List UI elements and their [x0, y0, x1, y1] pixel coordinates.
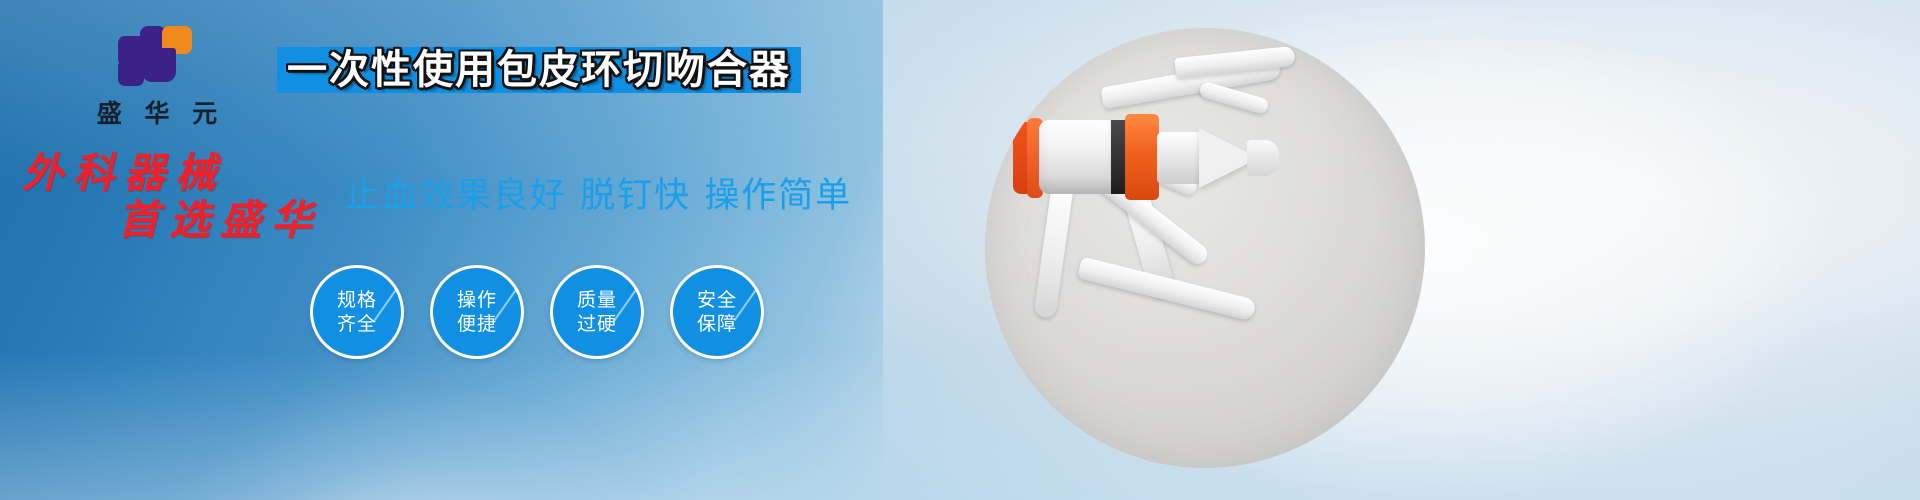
- product-photo: [985, 28, 1425, 468]
- badge-line-2: 便捷: [457, 312, 497, 336]
- logo-block-e: [118, 62, 144, 86]
- feature-badge-safety[interactable]: 安全 保障: [670, 265, 764, 359]
- calligraphy-slogan: 外科器械 首选盛华: [22, 150, 352, 243]
- badge-line-1: 规格: [337, 288, 377, 312]
- badge-line-2: 过硬: [577, 312, 617, 336]
- badge-line-1: 操作: [457, 288, 497, 312]
- feature-badge-operation[interactable]: 操作 便捷: [430, 265, 524, 359]
- feature-badge-quality[interactable]: 质量 过硬: [550, 265, 644, 359]
- device-neck: [1157, 132, 1203, 184]
- brand-logo: 盛 华 元: [62, 26, 252, 130]
- logo-block-d: [142, 48, 176, 82]
- subtitle: 止血效果良好 脱钉快 操作简单: [345, 167, 852, 218]
- slogan-line-2: 首选盛华: [118, 197, 352, 244]
- feature-badge-list: 规格 齐全 操作 便捷 质量 过硬 安全 保障: [310, 265, 764, 359]
- cube-logo-icon: [118, 26, 196, 88]
- product-banner: 盛 华 元 外科器械 首选盛华 一次性使用包皮环切吻合器 止血效果良好 脱钉快 …: [0, 0, 1920, 500]
- badge-line-1: 安全: [697, 288, 737, 312]
- badge-line-2: 保障: [697, 312, 737, 336]
- device-lower-handle: [1033, 177, 1074, 319]
- badge-line-1: 质量: [577, 288, 617, 312]
- badge-line-2: 齐全: [337, 312, 377, 336]
- device-tip: [1247, 140, 1279, 176]
- device-white-barrel: [1039, 120, 1115, 194]
- page-title: 一次性使用包皮环切吻合器: [287, 50, 791, 90]
- title-banner-bar: 一次性使用包皮环切吻合器: [277, 47, 801, 93]
- feature-badge-specification[interactable]: 规格 齐全: [310, 265, 404, 359]
- slogan-line-1: 外科器械: [22, 150, 352, 197]
- brand-name: 盛 华 元: [62, 94, 252, 130]
- device-orange-body: [1125, 114, 1159, 200]
